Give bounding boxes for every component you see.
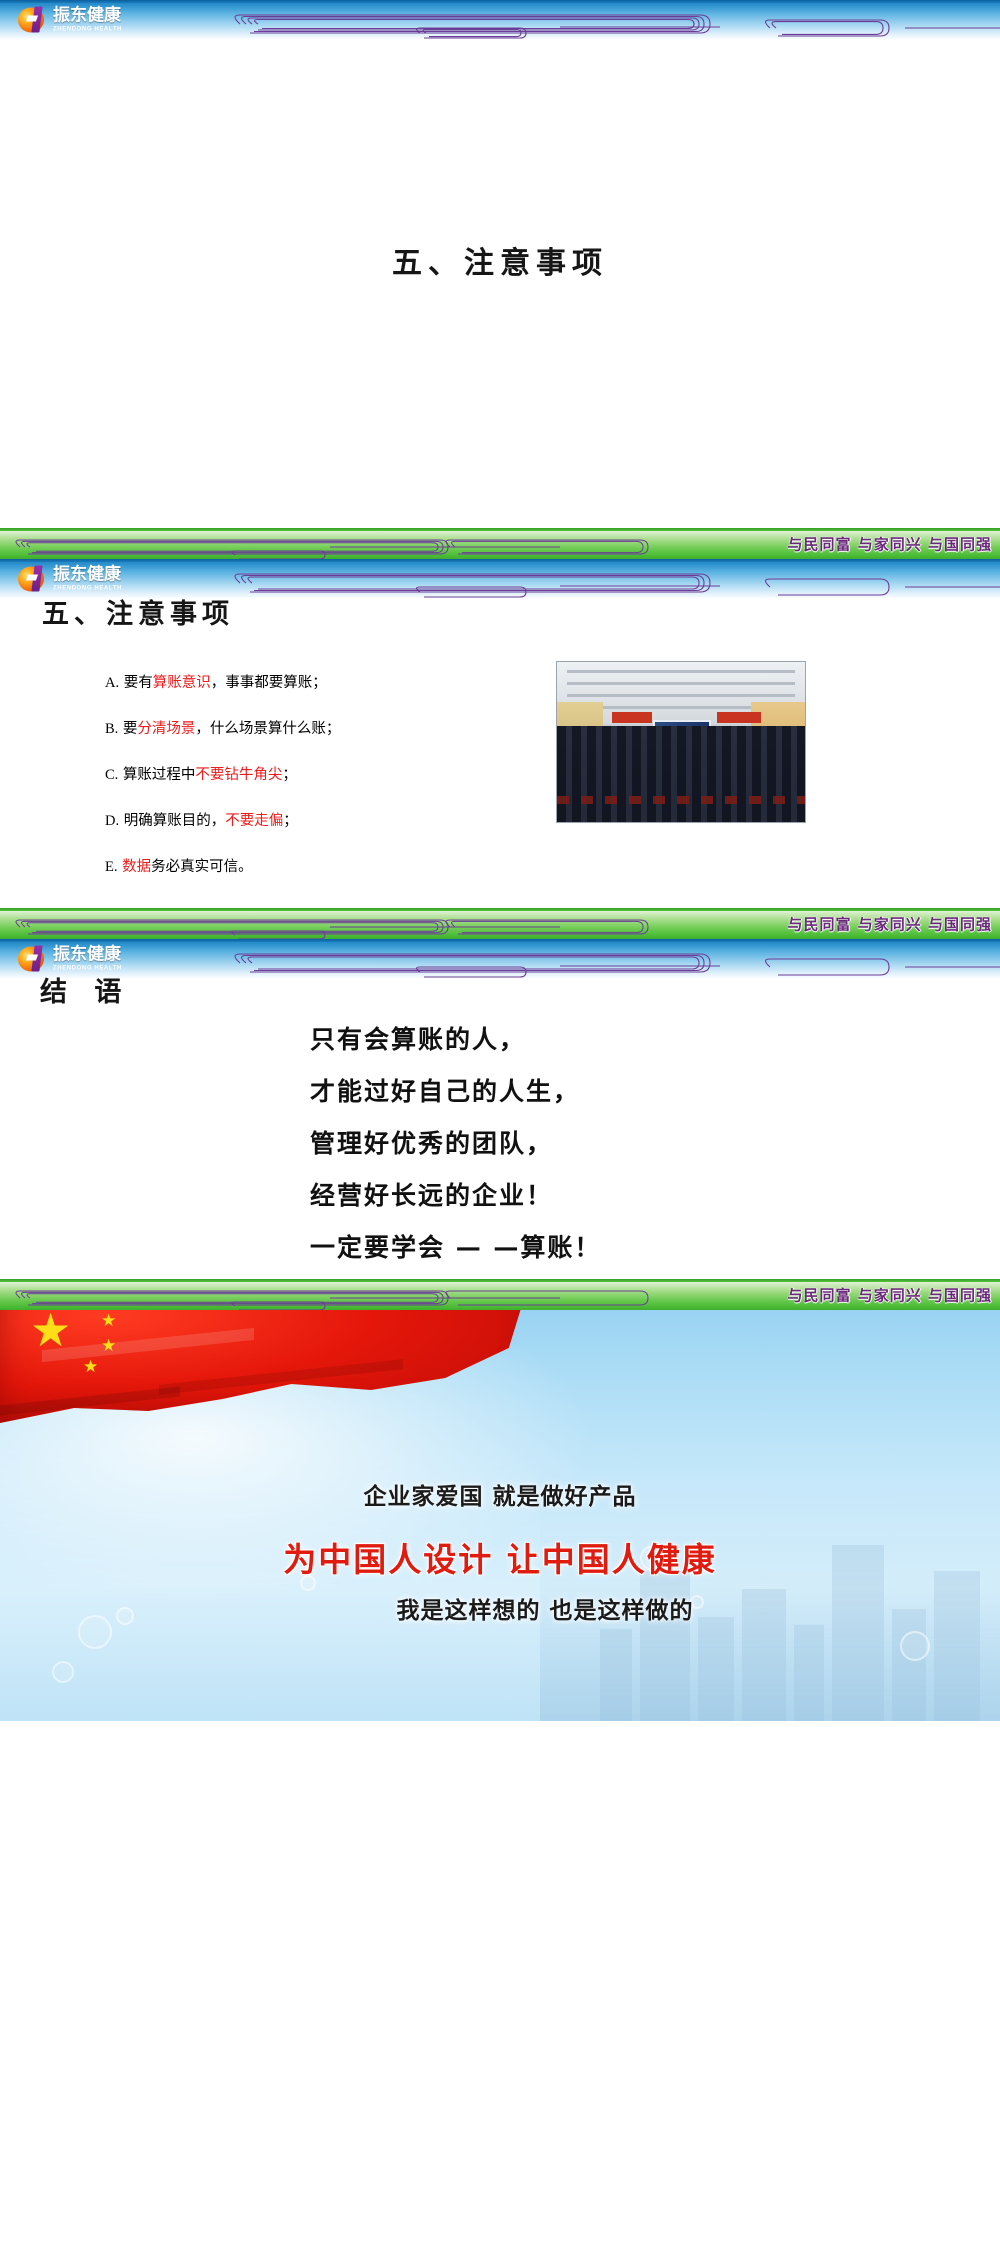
header-slogan: 与民同富 与家同兴 与国同强 [788,533,992,554]
bullet-text: ； [282,767,297,783]
brand-name-en: ZHENDONG HEALTH [53,27,122,33]
flag-star-small: ★ [101,1312,116,1329]
brand-name-cn: 振东健康 [53,947,122,964]
header-band-green-2: 与民同富 与家同兴 与国同强 [0,908,1000,939]
bullet-highlight: 不要走偏 [225,813,283,829]
thread-ornament-icon [0,939,1000,979]
flag-star-small: ★ [101,1337,116,1354]
closing-line-1: 企业家爱国 就是做好产品 [0,1477,1000,1511]
section-heading: 结 语 [40,970,130,1009]
presentation-page: 振东健康 ZHENDONG HEALTH 五、注意事项 [0,0,1000,2252]
closing-line-2: 为中国人设计 让中国人健康 [0,1533,1000,1581]
zhendong-sun-logo-icon [18,566,48,593]
slide-closing: 与民同富 与家同兴 与国同强 ★ ★ ★ ★ [0,1279,1000,1721]
brand-name-cn: 振东健康 [53,567,122,584]
list-item: A. 要有算账意识，事事都要算账； [105,671,375,692]
verse-line: 一定要学会 — —算账！ [310,1228,601,1264]
brand-logo: 振东健康 ZHENDONG HEALTH [18,566,122,593]
bullet-highlight: 分清场景 [137,721,195,737]
bullet-marker: D. [105,813,119,829]
bullet-marker: A. [105,675,119,691]
list-item: B. 要分清场景，什么场景算什么账； [105,717,375,738]
header-slogan: 与民同富 与家同兴 与国同强 [788,1284,992,1305]
bullet-marker: C. [105,767,118,783]
bullet-highlight: 不要钻牛角尖 [195,767,282,783]
header-band-green-1: 与民同富 与家同兴 与国同强 [0,528,1000,559]
conference-hall-audience-photo [556,661,806,823]
slide-section-title: 振东健康 ZHENDONG HEALTH 五、注意事项 [0,0,1000,528]
flag-star-large: ★ [30,1307,71,1353]
notes-bullet-list: A. 要有算账意识，事事都要算账； B. 要分清场景，什么场景算什么账； C. … [105,671,375,901]
bullet-text: 明确算账目的， [124,813,226,829]
verse-line: 管理好优秀的团队， [310,1124,601,1160]
header-band-green-3: 与民同富 与家同兴 与国同强 [0,1279,1000,1310]
header-band-blue-2: 振东健康 ZHENDONG HEALTH [0,939,1000,979]
bullet-marker: B. [105,721,118,737]
slide-notes: 与民同富 与家同兴 与国同强 振东健康 [0,528,1000,908]
section-heading: 五、注意事项 [42,592,234,631]
header-slogan: 与民同富 与家同兴 与国同强 [788,913,992,934]
flag-star-small: ★ [83,1358,98,1375]
brand-logo: 振东健康 ZHENDONG HEALTH [18,946,122,973]
slide1-title-wrap: 五、注意事项 [0,238,1000,282]
bullet-text: ； [283,813,298,829]
brand-name-cn: 振东健康 [53,8,122,25]
zhendong-sun-logo-icon [18,7,48,34]
bullet-highlight: 数据 [122,859,151,875]
bullet-highlight: 算账意识 [153,675,211,691]
bullet-marker: E. [105,859,117,875]
verse-line: 经营好长远的企业！ [310,1176,601,1212]
bullet-text: 算账过程中 [123,767,196,783]
bullet-text: ，事事都要算账； [211,675,327,691]
list-item: E. 数据务必真实可信。 [105,855,375,876]
brand-logo: 振东健康 ZHENDONG HEALTH [18,7,122,34]
list-item: C. 算账过程中不要钻牛角尖； [105,763,375,784]
zhendong-sun-logo-icon [18,946,48,973]
page-title: 五、注意事项 [392,246,608,281]
bullet-text: 务必真实可信。 [151,859,253,875]
thread-ornament-icon [0,0,1000,40]
header-band-blue: 振东健康 ZHENDONG HEALTH [0,0,1000,40]
verse-line: 只有会算账的人， [310,1020,601,1056]
closing-line-3: 我是这样想的 也是这样做的 [0,1591,1000,1625]
bullet-text: 要 [123,721,138,737]
slide-conclusion: 与民同富 与家同兴 与国同强 振东健康 [0,908,1000,1279]
bullet-text: ，什么场景算什么账； [195,721,340,737]
brand-name-en: ZHENDONG HEALTH [53,586,122,592]
list-item: D. 明确算账目的，不要走偏； [105,809,375,830]
bullet-text: 要有 [124,675,153,691]
verse-line: 才能过好自己的人生， [310,1072,601,1108]
conclusion-verse-list: 只有会算账的人， 才能过好自己的人生， 管理好优秀的团队， 经营好长远的企业！ … [310,1020,601,1279]
